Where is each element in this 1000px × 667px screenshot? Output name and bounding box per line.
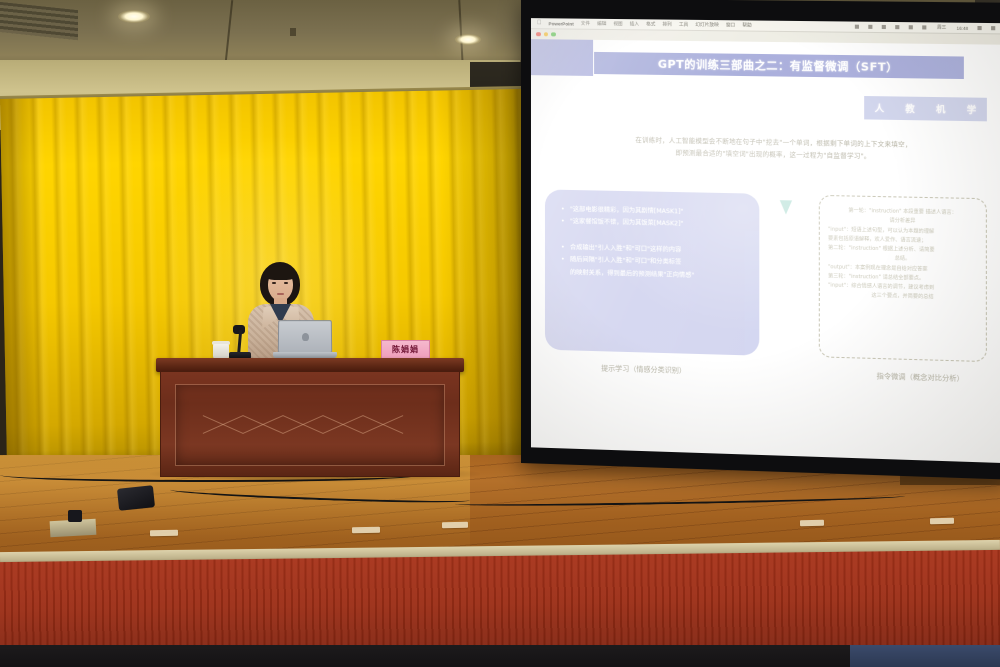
laptop-lid xyxy=(278,320,332,353)
dropbox-status-icon[interactable] xyxy=(855,25,859,29)
air-conditioning-vent xyxy=(0,2,78,40)
stage-monitor-speaker xyxy=(117,485,155,511)
prompt-learning-panel: "这部电影很精彩，因为其剧情[MASK1]" "这家餐馆饭不错，因为其饭菜[MA… xyxy=(545,189,759,355)
slide-panels-row: "这部电影很精彩，因为其剧情[MASK1]" "这家餐馆饭不错，因为其饭菜[MA… xyxy=(545,189,987,362)
menu-item-powerpoint[interactable]: PowerPoint xyxy=(548,21,573,26)
podium-front-panel xyxy=(160,371,460,477)
menu-item-format[interactable]: 格式 xyxy=(646,21,655,27)
powerpoint-slide: GPT的训练三部曲之二：有监督微调（SFT） 人 教 机 学 在训练时，人工智能… xyxy=(531,39,1000,463)
presenter-mouth xyxy=(277,293,284,295)
wooden-podium xyxy=(160,358,460,480)
battery-status-icon[interactable] xyxy=(909,25,913,29)
slide-captions-row: 提示学习（情感分类识别） 指令微调（概念对比分析） xyxy=(545,362,987,385)
menu-item-view[interactable]: 视图 xyxy=(613,21,622,27)
slide-theme-badge: 人 教 机 学 xyxy=(864,96,987,121)
house-floor-blue-section xyxy=(850,645,1000,667)
menu-item-insert[interactable]: 插入 xyxy=(630,21,639,27)
floor-marker-tape xyxy=(150,530,178,536)
menubar-date[interactable]: 周三 xyxy=(937,25,946,31)
floor-marker-tape xyxy=(930,518,954,524)
podium-inset-border xyxy=(175,384,445,466)
prompt-bullet-list-top: "这部电影很精彩，因为其剧情[MASK1]" "这家餐馆饭不错，因为其饭菜[MA… xyxy=(561,204,747,233)
ceiling-hook xyxy=(290,28,296,36)
ceiling-downlight xyxy=(455,34,481,45)
ceiling-seam xyxy=(225,0,233,62)
ceiling-seam xyxy=(458,0,463,66)
menu-item-edit[interactable]: 编辑 xyxy=(597,21,606,27)
ceiling-downlight xyxy=(118,10,150,23)
menu-item-arrange[interactable]: 排列 xyxy=(662,22,671,28)
slide-corner-accent xyxy=(531,39,593,76)
volume-status-icon[interactable] xyxy=(895,25,899,29)
menu-item-window[interactable]: 窗口 xyxy=(726,22,735,28)
control-center-icon[interactable] xyxy=(977,26,981,30)
presenter-fringe xyxy=(265,266,296,280)
slide-title: GPT的训练三部曲之二：有监督微调（SFT） xyxy=(658,56,898,75)
podium-countertop xyxy=(156,358,464,372)
badge-char-ji: 机 xyxy=(936,102,945,115)
name-placard: 陈娟娟 xyxy=(381,340,430,359)
projection-screen-surface:  PowerPoint 文件 编辑 视图 插入 格式 排列 工具 幻灯片放映 … xyxy=(531,18,1000,463)
bluetooth-status-icon[interactable] xyxy=(869,25,873,29)
close-window-icon[interactable] xyxy=(536,32,540,37)
badge-char-jiao: 教 xyxy=(905,102,914,115)
menubar-spacer xyxy=(759,26,846,27)
menu-item-file[interactable]: 文件 xyxy=(581,21,590,27)
badge-char-xue: 学 xyxy=(967,103,976,116)
prompt-bullet-list-bottom: 合成输出"引人入胜"和"可口"这样的内容 随后间隔"引人入胜"和"可口"和分类标… xyxy=(561,242,747,284)
lecture-hall-scene: 陈娟娟  PowerPoint 文件 编辑 视图 xyxy=(0,0,1000,667)
laptop-logo-icon xyxy=(301,333,308,341)
menubar-clock[interactable]: 16:48 xyxy=(957,25,968,30)
name-placard-text: 陈娟娟 xyxy=(392,344,419,355)
menu-item-help[interactable]: 帮助 xyxy=(742,22,751,28)
apple-menu-icon[interactable]:  xyxy=(537,20,541,26)
caption-instruction-tuning: 指令微调（概念对比分析） xyxy=(877,371,964,384)
menu-item-tools[interactable]: 工具 xyxy=(679,22,688,28)
slide-body-text: 在训练时，人工智能模型会不断地在句子中"挖去"一个单词，根据剩下单词的上下文来填… xyxy=(575,133,974,165)
down-arrow-icon xyxy=(780,200,792,214)
presenter-eye-left xyxy=(272,282,276,284)
projection-screen-frame:  PowerPoint 文件 编辑 视图 插入 格式 排列 工具 幻灯片放映 … xyxy=(521,0,1000,480)
badge-char-ren: 人 xyxy=(875,101,884,114)
wifi-status-icon[interactable] xyxy=(882,25,886,29)
menu-item-slideshow[interactable]: 幻灯片放映 xyxy=(695,22,718,28)
caption-prompt-learning: 提示学习（情感分类识别） xyxy=(601,363,686,376)
slide-title-banner: GPT的训练三部曲之二：有监督微调（SFT） xyxy=(594,52,964,79)
input-method-status-icon[interactable] xyxy=(922,25,926,29)
curtain-shadow-left xyxy=(0,98,47,471)
floor-connector xyxy=(68,510,82,522)
floor-marker-tape xyxy=(352,527,380,533)
instruction-tuning-panel: 第一轮："instruction" 本段重要 描述人语言： 请分析差异 "inp… xyxy=(819,195,987,362)
floor-marker-tape xyxy=(442,522,468,528)
spotlight-search-icon[interactable] xyxy=(991,26,995,30)
floor-marker-tape xyxy=(800,520,824,526)
zoom-window-icon[interactable] xyxy=(551,32,556,37)
presenter-eye-right xyxy=(284,282,288,284)
minimize-window-icon[interactable] xyxy=(543,32,547,37)
